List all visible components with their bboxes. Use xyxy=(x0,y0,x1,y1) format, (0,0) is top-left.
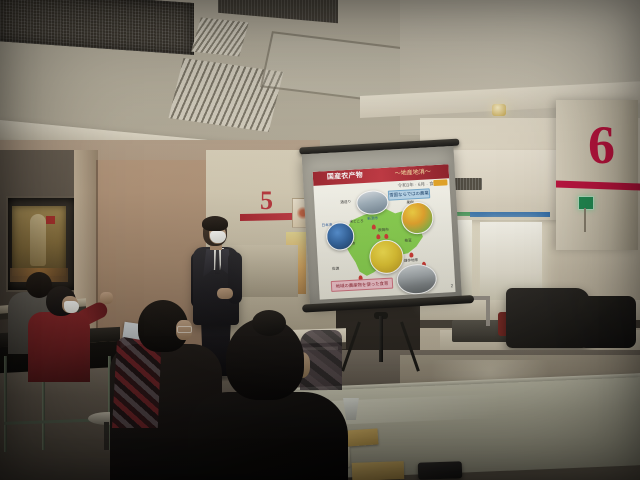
map-label-7: 枝豆 xyxy=(404,238,411,242)
projection-screen: 国産农产物 ～地産地消～ 令和3年 · 6月 · 食育 酒造り 日本海 果樹 米… xyxy=(299,139,467,323)
map-label-0: 酒造り xyxy=(340,200,351,205)
ceiling-slot-diffuser-icon xyxy=(191,17,249,56)
presenter-face-mask xyxy=(210,231,226,243)
screen-surface: 国産农产物 ～地産地消～ 令和3年 · 6月 · 食育 酒造り 日本海 果樹 米… xyxy=(302,146,462,306)
map-pin-1 xyxy=(376,234,380,239)
ceiling-air-vent-icon xyxy=(218,0,338,23)
slide-meta-badge xyxy=(433,179,447,186)
map-label-9: 佐渡 xyxy=(332,267,339,271)
map-pin-2 xyxy=(384,234,388,239)
smartphone[interactable] xyxy=(418,461,463,480)
presenter-hair xyxy=(202,216,228,231)
map-label-5: 長岡市 xyxy=(378,228,389,233)
slide-photo-fruit-harvest xyxy=(400,201,434,235)
emergency-exit-sign-icon xyxy=(578,196,594,210)
map-label-4: 新潟市 xyxy=(367,216,378,221)
attendee-hair-bun xyxy=(252,310,286,336)
map-pin-3 xyxy=(409,252,413,257)
tripod-mast xyxy=(379,316,383,362)
presenter-hand xyxy=(217,288,233,299)
lab-stool-post xyxy=(104,422,109,450)
slide-caption-top: 雪国ならではの農業 xyxy=(388,188,430,200)
ceiling-air-vent-mesh-icon xyxy=(0,0,194,55)
attendee-red-coat-body xyxy=(28,312,90,382)
map-pin-6 xyxy=(372,224,376,229)
bench-leg-1 xyxy=(4,356,7,452)
lab-blue-trim xyxy=(470,212,550,217)
dark-shoulder-bag-2 xyxy=(578,296,636,348)
slide-page-number: 2 xyxy=(445,282,453,290)
orange-leaflet-2[interactable] xyxy=(352,461,405,480)
map-label-8: 畑作地帯 xyxy=(404,258,419,263)
attendee-glasses-icon xyxy=(177,326,192,333)
room-number-5: 5 xyxy=(260,188,284,216)
attendee-red-coat-hand xyxy=(100,292,113,304)
room-number-6: 6 xyxy=(588,118,634,174)
faucet-icon[interactable] xyxy=(486,296,490,326)
poster-red-accent xyxy=(46,216,55,224)
classroom-presentation-photo: 5 6 国産农产物 ～地産地消～ 令和3年 xyxy=(0,0,640,480)
attendee-red-coat-face-mask xyxy=(64,301,79,313)
attendee-bun-hair-body xyxy=(188,392,348,480)
map-label-3: 米どころ xyxy=(349,219,363,224)
projected-slide: 国産农产物 ～地産地消～ 令和3年 · 6月 · 食育 酒造り 日本海 果樹 米… xyxy=(313,164,456,299)
slide-photo-paddy-field xyxy=(396,263,438,295)
exit-sign-mount xyxy=(584,208,586,232)
ceiling-light-icon xyxy=(492,104,506,116)
poster-figure xyxy=(30,214,46,266)
slide-caption-bottom: 地域の農産物を使った食育 xyxy=(331,278,394,292)
